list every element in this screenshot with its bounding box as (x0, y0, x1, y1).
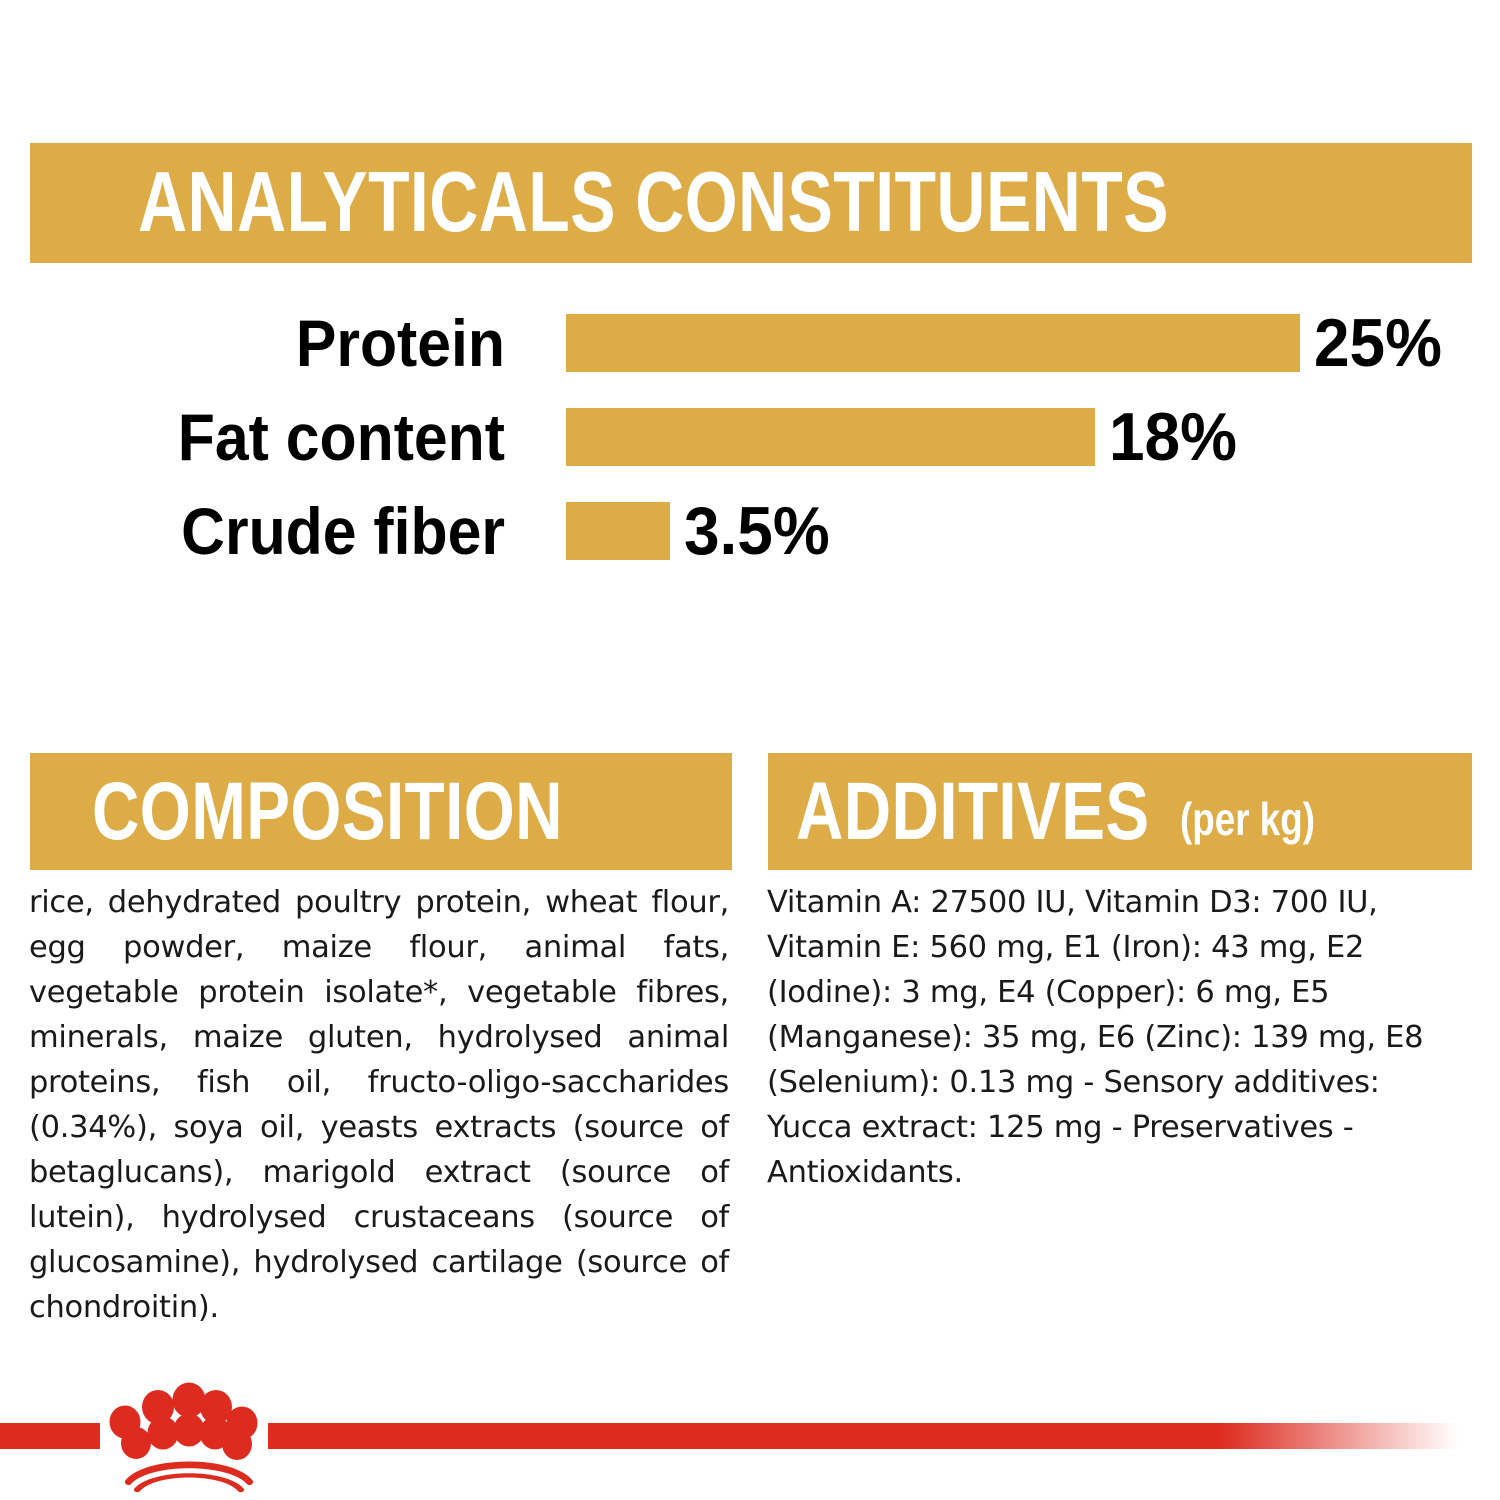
additives-body-text: Vitamin A: 27500 IU, Vitamin D3: 700 IU,… (767, 880, 1467, 1195)
bar-label-protein: Protein (40, 310, 505, 376)
composition-title: COMPOSITION (92, 765, 563, 859)
analyticals-title: ANALYTICALS CONSTITUENTS (138, 154, 1169, 252)
chart-row: Crude fiber 3.5% (0, 488, 1500, 574)
footer (0, 1395, 1500, 1500)
additives-subtitle: (per kg) (1180, 792, 1315, 846)
bar-protein (566, 314, 1300, 372)
bar-crude-fiber (566, 502, 670, 560)
chart-row: Fat content 18% (0, 394, 1500, 480)
bar-value-protein: 25% (1314, 309, 1442, 377)
bar-wrap-fat-content: 18% (566, 394, 1245, 480)
bar-label-fat-content: Fat content (40, 404, 505, 470)
bar-value-crude-fiber: 3.5% (684, 497, 830, 565)
bar-value-fat-content: 18% (1109, 403, 1237, 471)
additives-title: ADDITIVES (796, 765, 1150, 859)
chart-row: Protein 25% (0, 300, 1500, 386)
bar-wrap-crude-fiber: 3.5% (566, 488, 839, 574)
additives-header: ADDITIVES (per kg) (768, 753, 1472, 870)
analyticals-bar-chart: Protein 25% Fat content 18% Crude fiber … (0, 300, 1500, 580)
royal-canin-crown-icon (104, 1373, 274, 1493)
bar-fat-content (566, 408, 1095, 466)
analyticals-constituents-header: ANALYTICALS CONSTITUENTS (30, 143, 1472, 263)
bar-wrap-protein: 25% (566, 300, 1450, 386)
footer-rule-left (0, 1423, 100, 1449)
bar-label-crude-fiber: Crude fiber (40, 498, 505, 564)
footer-rule-right (268, 1423, 1458, 1449)
composition-header: COMPOSITION (30, 753, 732, 870)
composition-body-text: rice, dehydrated poultry protein, wheat … (29, 880, 729, 1330)
